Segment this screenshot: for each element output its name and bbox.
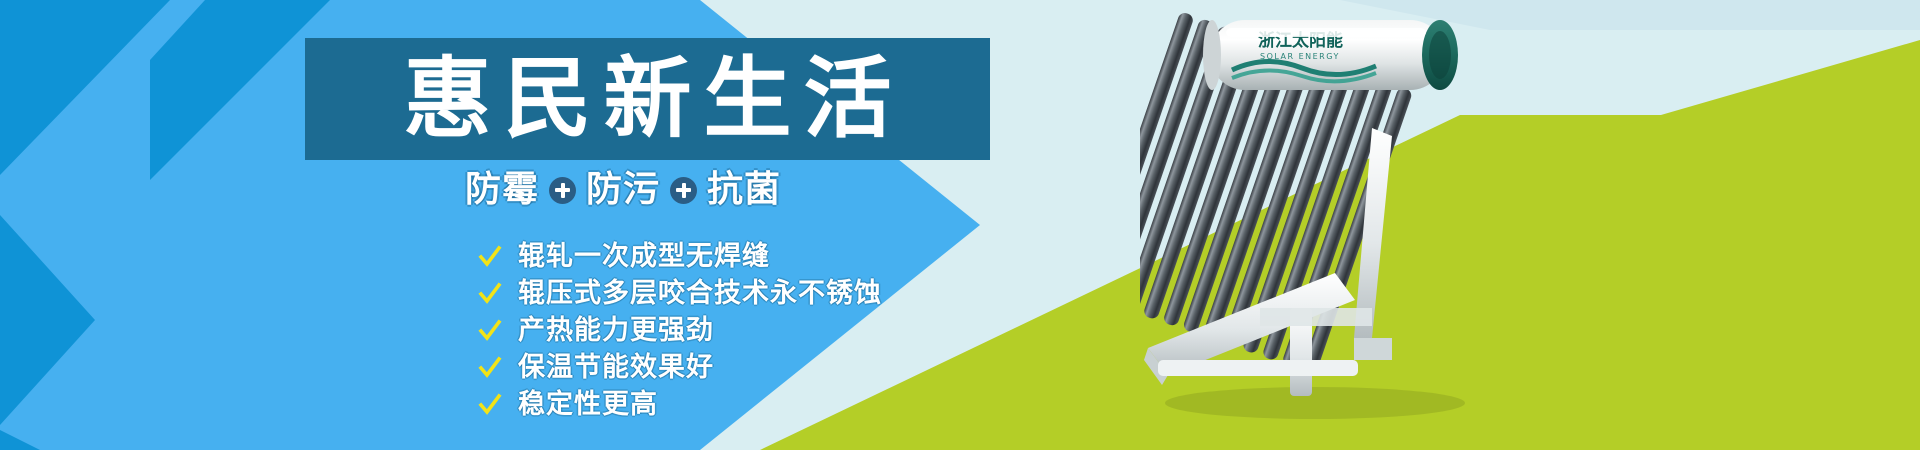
promo-banner: 惠民新生活 防霉 防污 抗菌 辊轧一次成型无焊缝 辊压式多层咬合技术永不锈蚀 产… — [0, 0, 1920, 450]
list-item: 产热能力更强劲 — [478, 312, 882, 349]
solar-water-heater-illustration: 浙江太阳能 SOLAR ENERGY — [1140, 8, 1540, 428]
list-item: 辊轧一次成型无焊缝 — [478, 238, 882, 275]
product-shadow — [1165, 387, 1465, 419]
tank-brand-sublabel: SOLAR ENERGY — [1260, 52, 1340, 61]
feature-label: 稳定性更高 — [518, 391, 658, 418]
subtitle-word-3: 抗菌 — [707, 172, 781, 208]
feature-label: 辊轧一次成型无焊缝 — [518, 243, 770, 270]
feature-label: 产热能力更强劲 — [518, 317, 714, 344]
title-plate: 惠民新生活 — [305, 38, 990, 160]
list-item: 保温节能效果好 — [478, 349, 882, 386]
feature-list: 辊轧一次成型无焊缝 辊压式多层咬合技术永不锈蚀 产热能力更强劲 保温节能效果好 … — [478, 238, 882, 423]
check-icon — [478, 282, 502, 306]
subtitle-word-1: 防霉 — [465, 172, 539, 208]
list-item: 辊压式多层咬合技术永不锈蚀 — [478, 275, 882, 312]
check-icon — [478, 356, 502, 380]
subtitle-row: 防霉 防污 抗菌 — [465, 172, 781, 208]
list-item: 稳定性更高 — [478, 386, 882, 423]
check-icon — [478, 393, 502, 417]
feature-label: 辊压式多层咬合技术永不锈蚀 — [518, 280, 882, 307]
check-icon — [478, 319, 502, 343]
product-image: 浙江太阳能 SOLAR ENERGY — [1140, 8, 1540, 428]
feature-label: 保温节能效果好 — [518, 354, 714, 381]
plus-badge-icon — [670, 177, 697, 204]
plus-badge-icon — [549, 177, 576, 204]
check-icon — [478, 245, 502, 269]
water-tank: 浙江太阳能 SOLAR ENERGY — [1203, 20, 1458, 90]
subtitle-word-2: 防污 — [586, 172, 660, 208]
page-title: 惠民新生活 — [391, 55, 903, 143]
